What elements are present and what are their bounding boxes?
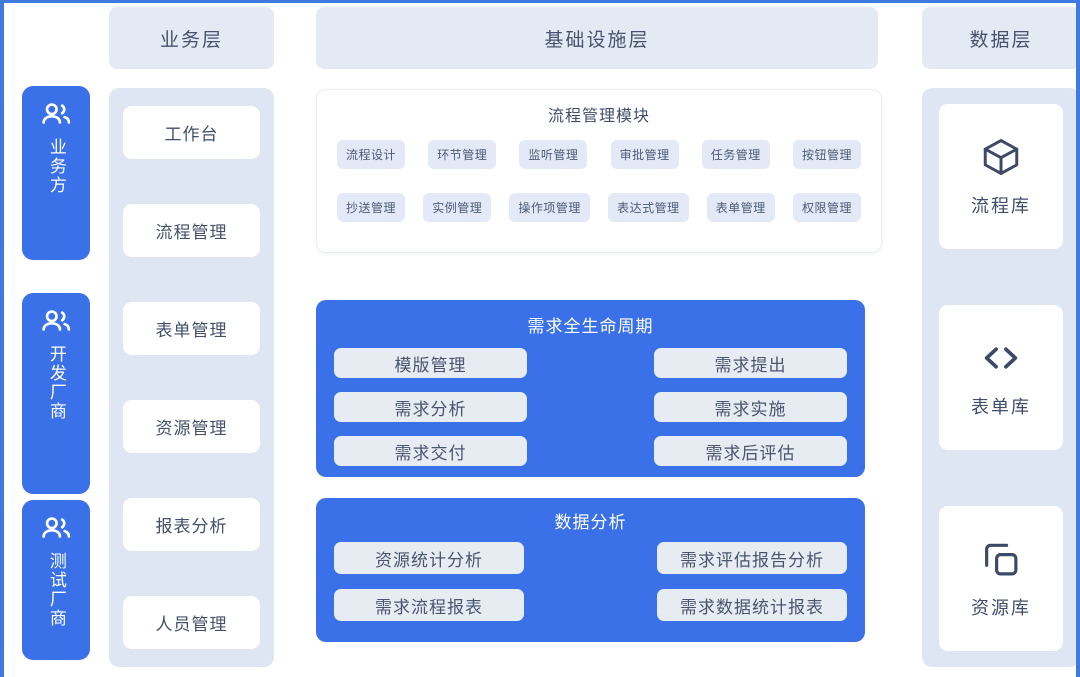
lifecycle-item-requirement-implementation[interactable]: 需求实施 — [654, 392, 847, 422]
business-item-report-analysis[interactable]: 报表分析 — [123, 498, 260, 551]
data-layer-header: 数据层 — [922, 7, 1080, 69]
analysis-title: 数据分析 — [334, 508, 847, 533]
business-item-process-management[interactable]: 流程管理 — [123, 204, 260, 257]
lifecycle-item-post-evaluation[interactable]: 需求后评估 — [654, 436, 847, 466]
tag-permission-management[interactable]: 权限管理 — [793, 193, 861, 222]
business-layer-panel: 工作台 流程管理 表单管理 资源管理 报表分析 人员管理 — [109, 88, 274, 667]
actor-card-business[interactable]: 业务方 — [22, 86, 90, 260]
business-item-workbench[interactable]: 工作台 — [123, 106, 260, 159]
lifecycle-grid: 模版管理 需求提出 需求分析 需求实施 需求交付 需求后评估 — [334, 348, 847, 466]
process-tag-row-2: 抄送管理 实例管理 操作项管理 表达式管理 表单管理 权限管理 — [337, 193, 861, 222]
code-brackets-icon — [980, 337, 1022, 379]
cube-icon — [980, 136, 1022, 178]
data-analysis-panel: 数据分析 资源统计分析 需求评估报告分析 需求流程报表 需求数据统计报表 — [316, 498, 865, 642]
tag-operation-item-management[interactable]: 操作项管理 — [509, 193, 590, 222]
lifecycle-item-requirement-analysis[interactable]: 需求分析 — [334, 392, 527, 422]
tag-cc-management[interactable]: 抄送管理 — [337, 193, 405, 222]
business-layer-header: 业务层 — [109, 7, 274, 69]
lifecycle-title: 需求全生命周期 — [334, 312, 847, 337]
actor-rail: 业务方 开发厂商 测试厂商 — [8, 3, 102, 677]
tag-node-management[interactable]: 环节管理 — [428, 140, 496, 169]
analysis-item-process-report[interactable]: 需求流程报表 — [334, 589, 524, 621]
tag-task-management[interactable]: 任务管理 — [702, 140, 770, 169]
process-management-module: 流程管理模块 流程设计 环节管理 监听管理 审批管理 任务管理 按钮管理 抄送管… — [316, 89, 882, 253]
analysis-item-data-statistics-report[interactable]: 需求数据统计报表 — [657, 589, 847, 621]
tag-listener-management[interactable]: 监听管理 — [519, 140, 587, 169]
actor-label: 测试厂商 — [45, 552, 67, 628]
data-card-label: 流程库 — [971, 192, 1031, 218]
requirement-lifecycle-panel: 需求全生命周期 模版管理 需求提出 需求分析 需求实施 需求交付 需求后评估 — [316, 300, 865, 477]
tag-instance-management[interactable]: 实例管理 — [423, 193, 491, 222]
lifecycle-item-requirement-delivery[interactable]: 需求交付 — [334, 436, 527, 466]
lifecycle-item-template-management[interactable]: 模版管理 — [334, 348, 527, 378]
data-card-form-repository[interactable]: 表单库 — [939, 305, 1063, 450]
data-card-resource-repository[interactable]: 资源库 — [939, 506, 1063, 651]
data-card-label: 资源库 — [971, 594, 1031, 620]
business-item-staff-management[interactable]: 人员管理 — [123, 596, 260, 649]
architecture-diagram: 业务方 开发厂商 测试厂商 业务层 工作台 流程管理 表单管理 — [0, 0, 1080, 677]
actor-label: 开发厂商 — [45, 345, 67, 421]
tag-approval-management[interactable]: 审批管理 — [611, 140, 679, 169]
infrastructure-layer-header: 基础设施层 — [316, 7, 878, 69]
business-item-resource-management[interactable]: 资源管理 — [123, 400, 260, 453]
actor-card-developer[interactable]: 开发厂商 — [22, 293, 90, 494]
data-card-process-repository[interactable]: 流程库 — [939, 104, 1063, 249]
users-icon — [39, 102, 73, 130]
data-card-label: 表单库 — [971, 393, 1031, 419]
process-tag-row-1: 流程设计 环节管理 监听管理 审批管理 任务管理 按钮管理 — [337, 140, 861, 169]
copy-icon — [980, 538, 1022, 580]
process-module-title: 流程管理模块 — [337, 102, 861, 126]
lifecycle-item-requirement-proposal[interactable]: 需求提出 — [654, 348, 847, 378]
users-icon — [39, 516, 73, 544]
analysis-grid: 资源统计分析 需求评估报告分析 需求流程报表 需求数据统计报表 — [334, 542, 847, 621]
users-icon — [39, 309, 73, 337]
analysis-item-resource-statistics[interactable]: 资源统计分析 — [334, 542, 524, 574]
actor-label: 业务方 — [45, 138, 67, 195]
tag-button-management[interactable]: 按钮管理 — [793, 140, 861, 169]
tag-process-design[interactable]: 流程设计 — [337, 140, 405, 169]
data-layer-panel: 流程库 表单库 资源库 — [922, 88, 1080, 667]
business-item-form-management[interactable]: 表单管理 — [123, 302, 260, 355]
actor-card-tester[interactable]: 测试厂商 — [22, 500, 90, 660]
tag-form-management[interactable]: 表单管理 — [707, 193, 775, 222]
tag-expression-management[interactable]: 表达式管理 — [608, 193, 689, 222]
analysis-item-evaluation-report[interactable]: 需求评估报告分析 — [657, 542, 847, 574]
